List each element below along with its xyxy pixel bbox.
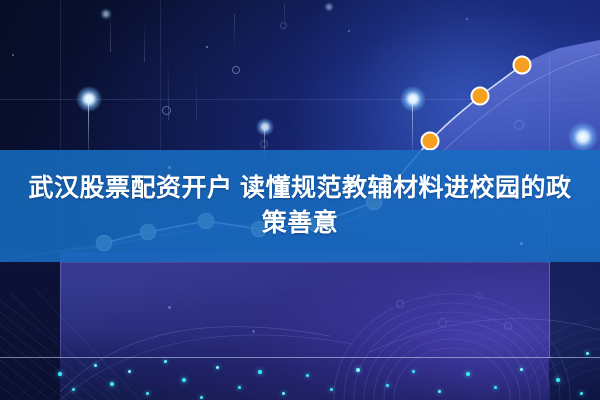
cyan-particle (128, 370, 131, 373)
banner-image: 武汉股票配资开户 读懂规范教辅材料进校园的政 策善意 (0, 0, 600, 400)
cyan-particle (282, 392, 285, 395)
spark-particle (168, 306, 171, 309)
ring-particle (162, 106, 171, 115)
cyan-particle (520, 368, 523, 371)
ring-particle (438, 318, 447, 327)
spark-particle (206, 46, 208, 48)
cyan-particle (494, 386, 497, 389)
light-streak (110, 6, 111, 52)
light-streak (234, 14, 235, 50)
ring-particle (514, 120, 524, 130)
cyan-particle (356, 368, 360, 372)
spark-particle (520, 242, 523, 245)
spark-particle (12, 54, 14, 56)
cyan-particle (412, 370, 415, 373)
spark-particle (168, 166, 171, 169)
glow-particle (400, 86, 426, 112)
cyan-particle (580, 392, 583, 395)
cyan-particle (216, 366, 219, 369)
cyan-particle (164, 360, 167, 363)
cyan-particle (146, 392, 149, 395)
cyan-particle (556, 378, 560, 382)
cyan-particle (438, 390, 441, 393)
cyan-particle (386, 384, 389, 387)
ring-particle (504, 322, 512, 330)
glow-particle (568, 122, 598, 152)
spark-particle (566, 176, 569, 179)
ring-particle (476, 292, 483, 299)
cyan-particle (586, 352, 589, 355)
light-streak (284, 4, 285, 34)
cyan-particle (330, 388, 333, 391)
cyan-particle (58, 372, 62, 376)
ring-particle (260, 140, 268, 148)
cyan-particle (258, 370, 262, 374)
cyan-particle (110, 382, 114, 386)
ring-particle (280, 22, 287, 29)
cyan-particle (466, 372, 470, 376)
title-band: 武汉股票配资开户 读懂规范教辅材料进校园的政 策善意 (0, 150, 600, 262)
band-bottom-rule (60, 262, 550, 263)
light-streak (144, 22, 145, 62)
spark-particle (252, 330, 255, 333)
cyan-particle (94, 364, 97, 367)
page-title-line-1: 武汉股票配资开户 读懂规范教辅材料进校园的政 (29, 171, 572, 207)
lower-horizontal-rule (0, 357, 600, 358)
cyan-particle (72, 388, 75, 391)
cyan-particle (182, 378, 186, 382)
cyan-particle (306, 374, 309, 377)
glow-particle (324, 2, 334, 12)
glow-particle (76, 86, 102, 112)
cyan-particle (238, 386, 241, 389)
page-title-line-2: 策善意 (262, 206, 339, 242)
glow-particle (256, 118, 274, 136)
spark-particle (466, 18, 468, 20)
spark-particle (44, 196, 47, 199)
light-streak (196, 70, 197, 120)
spark-particle (348, 30, 350, 32)
cyan-particle (200, 396, 203, 399)
ring-particle (232, 66, 240, 74)
ring-particle (396, 300, 404, 308)
